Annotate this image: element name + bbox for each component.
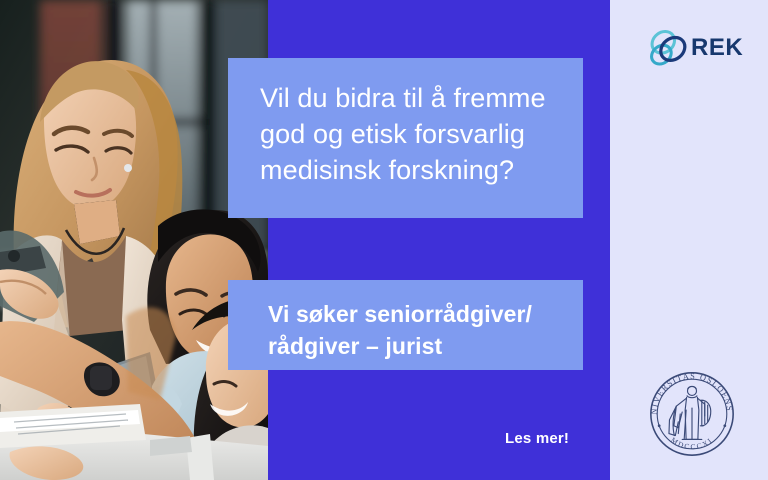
subhead-line-1: Vi søker seniorrådgiver/ <box>268 298 557 330</box>
rek-interlocking-rings-icon <box>648 28 690 68</box>
headline-callout: Vil du bidra til å fremme god og etisk f… <box>228 58 583 218</box>
read-more-link[interactable]: Les mer! <box>505 430 569 447</box>
rek-logo[interactable]: REK <box>648 26 740 70</box>
headline-line-3: medisinsk forskning? <box>260 152 553 188</box>
recruitment-banner: Vil du bidra til å fremme god og etisk f… <box>0 0 768 480</box>
subhead-line-2: rådgiver – jurist <box>268 330 557 362</box>
subhead-callout: Vi søker seniorrådgiver/ rådgiver – juri… <box>228 280 583 370</box>
rek-wordmark: REK <box>691 36 743 60</box>
university-of-oslo-seal: UNIVERSITAS OSLOENSIS MDCCCXI <box>643 365 741 463</box>
svg-text:UNIVERSITAS OSLOENSIS: UNIVERSITAS OSLOENSIS <box>643 365 734 415</box>
headline-line-1: Vil du bidra til å fremme <box>260 80 553 116</box>
headline-line-2: god og etisk forsvarlig <box>260 116 553 152</box>
